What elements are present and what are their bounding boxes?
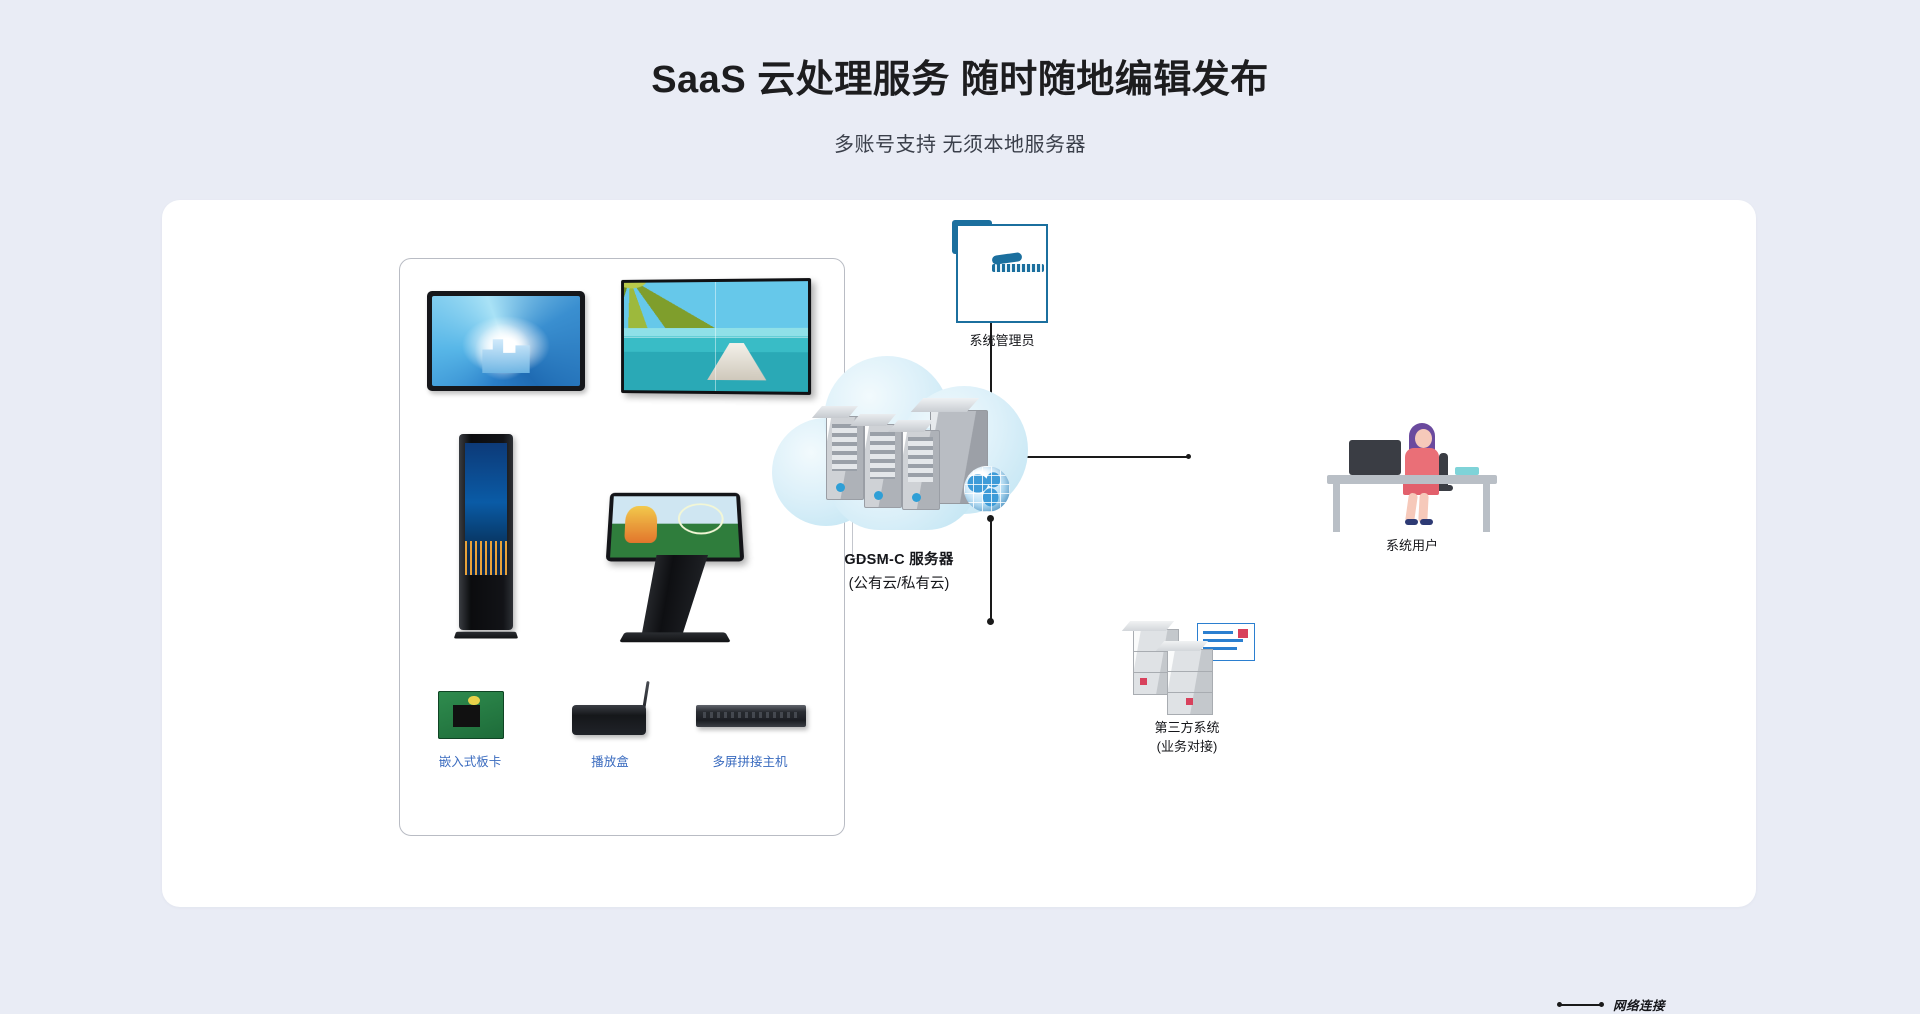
server-seam: [1168, 692, 1212, 693]
diagram-card: 嵌入式板卡 播放盒 多屏拼接主机 远 程 终 端: [162, 200, 1756, 907]
splicing-host-art: [696, 705, 806, 727]
server-unit-2: [864, 424, 902, 508]
desk-leg-right: [1483, 484, 1490, 532]
connector-dot-user: [1186, 454, 1191, 459]
document-stamp: [1238, 629, 1248, 638]
wall-mounted-display: [427, 291, 585, 391]
touch-kiosk-stem: [642, 555, 708, 633]
server-top-face: [850, 414, 896, 426]
media-player-box-art: [572, 705, 646, 735]
kiosk-base: [454, 632, 518, 639]
media-player-box-label: 播放盒: [550, 751, 670, 770]
hardware-splicing-host: 多屏拼接主机: [690, 679, 810, 770]
connector-cloud-to-user: [1007, 456, 1190, 458]
page-title: SaaS 云处理服务 随时随地编辑发布: [0, 48, 1920, 103]
server-unit-1: [826, 416, 864, 500]
video-wall-seam-horizontal: [624, 337, 808, 338]
server-led: [1186, 698, 1193, 705]
touch-table-kiosk: [600, 489, 750, 659]
pier-graphic: [707, 343, 766, 380]
legend-line-bar: [1560, 1004, 1602, 1006]
third-party-system-subtitle: (业务对接): [1097, 738, 1277, 757]
vertical-floor-standing-kiosk: [455, 434, 517, 654]
third-party-server-2: [1167, 649, 1213, 715]
desk-book-icon: [1455, 467, 1479, 475]
server-top-face: [812, 406, 858, 418]
cloud-shape: [772, 350, 1027, 535]
server-seam: [1168, 671, 1212, 672]
server-top-face: [911, 398, 980, 412]
administrator-icon: [952, 220, 1052, 328]
touch-kiosk-base: [619, 632, 731, 642]
third-party-system-label: 第三方系统 (业务对接): [1097, 719, 1277, 757]
kiosk-screen-content: [465, 443, 507, 575]
server-unit-3: [902, 430, 940, 510]
document-line: [1203, 631, 1233, 634]
third-party-system-title: 第三方系统: [1097, 719, 1277, 738]
globe-icon: [964, 466, 1010, 512]
keyboard-icon: [992, 264, 1044, 272]
system-administrator-node: 系统管理员: [937, 220, 1067, 349]
hardware-embedded-board: 嵌入式板卡: [410, 679, 530, 770]
system-user-icon: [1327, 415, 1497, 525]
legend-line-icon: [1557, 1001, 1605, 1008]
palm-leaf-graphic: [624, 281, 718, 328]
device-panel: 嵌入式板卡 播放盒 多屏拼接主机: [399, 258, 845, 836]
embedded-board-art: [438, 691, 504, 739]
splicing-host-icon: [690, 679, 810, 745]
page-subtitle: 多账号支持 无须本地服务器: [0, 128, 1920, 157]
system-administrator-label: 系统管理员: [937, 330, 1067, 349]
third-party-system-node: 第三方系统 (业务对接): [1097, 615, 1277, 757]
legend: 网络连接: [1557, 995, 1665, 1014]
legend-label: 网络连接: [1613, 995, 1665, 1014]
user-shoe-right: [1420, 519, 1433, 525]
system-user-label: 系统用户: [1312, 535, 1512, 554]
gdsm-c-server-caption: GDSM-C 服务器 (公有云/私有云): [754, 548, 1044, 593]
server-top-face: [888, 420, 934, 432]
legend-dot-right: [1599, 1002, 1604, 1007]
touch-kiosk-panel: [606, 493, 745, 562]
third-party-system-icon: [1127, 615, 1247, 715]
document-line: [1203, 639, 1243, 642]
gdsm-c-server-label: GDSM-C 服务器: [754, 548, 1044, 569]
system-user-node: 系统用户: [1312, 415, 1512, 554]
user-monitor-icon: [1349, 440, 1401, 475]
desk-leg-left: [1333, 484, 1340, 532]
touch-kiosk-screen-content: [610, 496, 740, 557]
user-shoe-left: [1405, 519, 1418, 525]
embedded-board-icon: [410, 679, 530, 745]
embedded-board-label: 嵌入式板卡: [410, 751, 530, 770]
hardware-media-player-box: 播放盒: [550, 679, 670, 770]
kiosk-body: [459, 434, 513, 630]
wall-mounted-display-content: [432, 296, 580, 386]
splicing-host-label: 多屏拼接主机: [690, 751, 810, 770]
connector-dot-thirdparty: [987, 618, 994, 625]
media-player-box-icon: [550, 679, 670, 745]
server-led: [1140, 678, 1147, 685]
gdsm-c-server-sublabel: (公有云/私有云): [754, 572, 1044, 593]
server-rack-group: [822, 406, 986, 510]
legend-dot-left: [1557, 1002, 1562, 1007]
desk-top: [1327, 475, 1497, 484]
user-face: [1415, 429, 1432, 448]
monitor-icon: [952, 220, 992, 254]
